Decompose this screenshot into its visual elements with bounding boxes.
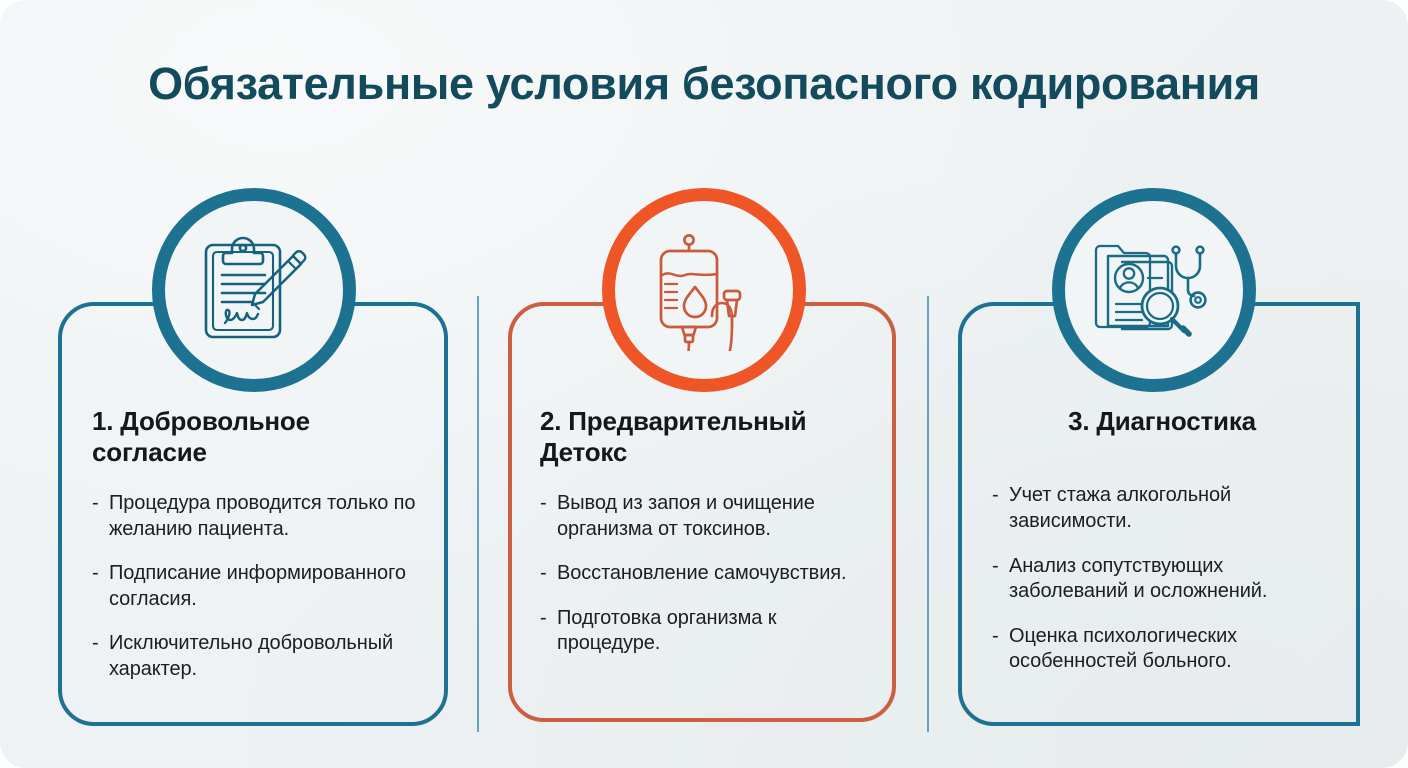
bullet-text: Анализ сопутствующих заболеваний и ослож… <box>1009 555 1267 603</box>
card-title-2: 2. Предварительный Детокс <box>540 406 872 469</box>
bullet-text: Процедура проводится только по желанию п… <box>109 492 415 540</box>
card-bullets-2: -Вывод из запоя и очищение организма от … <box>540 491 872 657</box>
icon-circle-2 <box>602 188 806 392</box>
bullet-dash: - <box>540 606 547 632</box>
bullet-text: Исключительно добровольный характер. <box>109 632 393 680</box>
list-item: -Восстановление самочувствия. <box>540 561 872 587</box>
list-item: -Анализ сопутствующих заболеваний и осло… <box>992 554 1332 605</box>
bullet-dash: - <box>92 561 99 587</box>
infographic-poster: Обязательные условия безопасного кодиров… <box>0 0 1408 768</box>
bullet-text: Восстановление самочувствия. <box>557 562 846 584</box>
list-item: -Процедура проводится только по желанию … <box>92 491 418 542</box>
bullet-dash: - <box>540 561 547 587</box>
bullet-text: Вывод из запоя и очищение организма от т… <box>557 492 815 540</box>
bullet-dash: - <box>92 631 99 657</box>
list-item: -Исключительно добровольный характер. <box>92 631 418 682</box>
bullet-text: Оценка психологических особенностей боль… <box>1009 625 1237 673</box>
card-bullets-1: -Процедура проводится только по желанию … <box>92 491 418 683</box>
icon-circle-1 <box>152 188 356 392</box>
card-title-1: 1. Добровольное согласие <box>92 406 418 469</box>
bullet-text: Учет стажа алкогольной зависимости. <box>1009 484 1231 532</box>
bullet-dash: - <box>92 491 99 517</box>
column-divider-2 <box>927 296 929 732</box>
bullet-dash: - <box>992 483 999 509</box>
card-title-3: 3. Диагностика <box>992 406 1332 437</box>
list-item: -Оценка психологических особенностей бол… <box>992 624 1332 675</box>
icon-circle-3 <box>1052 188 1256 392</box>
patient-file-magnifier-stethoscope-icon <box>1092 228 1216 352</box>
iv-drip-bag-icon <box>643 229 765 351</box>
list-item: -Подготовка организма к процедуре. <box>540 606 872 657</box>
page-title: Обязательные условия безопасного кодиров… <box>0 58 1408 110</box>
bullet-dash: - <box>540 491 547 517</box>
list-item: -Вывод из запоя и очищение организма от … <box>540 491 872 542</box>
column-divider-1 <box>477 296 479 732</box>
card-bullets-3: -Учет стажа алкогольной зависимости. -Ан… <box>992 483 1332 675</box>
bullet-text: Подписание информированного согласия. <box>109 562 406 610</box>
bullet-dash: - <box>992 554 999 580</box>
bullet-text: Подготовка организма к процедуре. <box>557 607 776 655</box>
bullet-dash: - <box>992 624 999 650</box>
list-item: -Подписание информированного согласия. <box>92 561 418 612</box>
clipboard-signature-pen-icon <box>194 230 314 350</box>
list-item: -Учет стажа алкогольной зависимости. <box>992 483 1332 534</box>
